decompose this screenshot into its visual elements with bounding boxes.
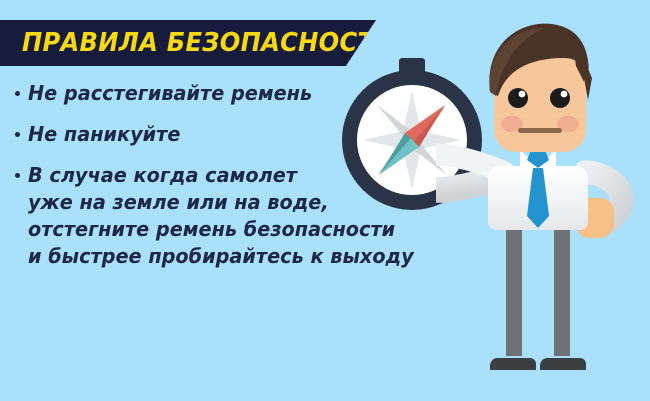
bullet-dot-icon [15, 91, 20, 96]
list-item-line: отстегните ремень безопасности [28, 216, 419, 243]
bullet-dot-icon [15, 132, 20, 137]
businessman-illustration [436, 0, 650, 401]
list-item-line: и быстрее пробирайтесь к выходу [28, 243, 419, 270]
safety-rules-poster: ПРАВИЛА БЕЗОПАСНОСТИ Не расстегивайте ре… [0, 0, 650, 401]
title-banner: ПРАВИЛА БЕЗОПАСНОСТИ [0, 20, 376, 66]
bullet-dot-icon [15, 173, 20, 178]
page-title: ПРАВИЛА БЕЗОПАСНОСТИ [22, 28, 395, 58]
